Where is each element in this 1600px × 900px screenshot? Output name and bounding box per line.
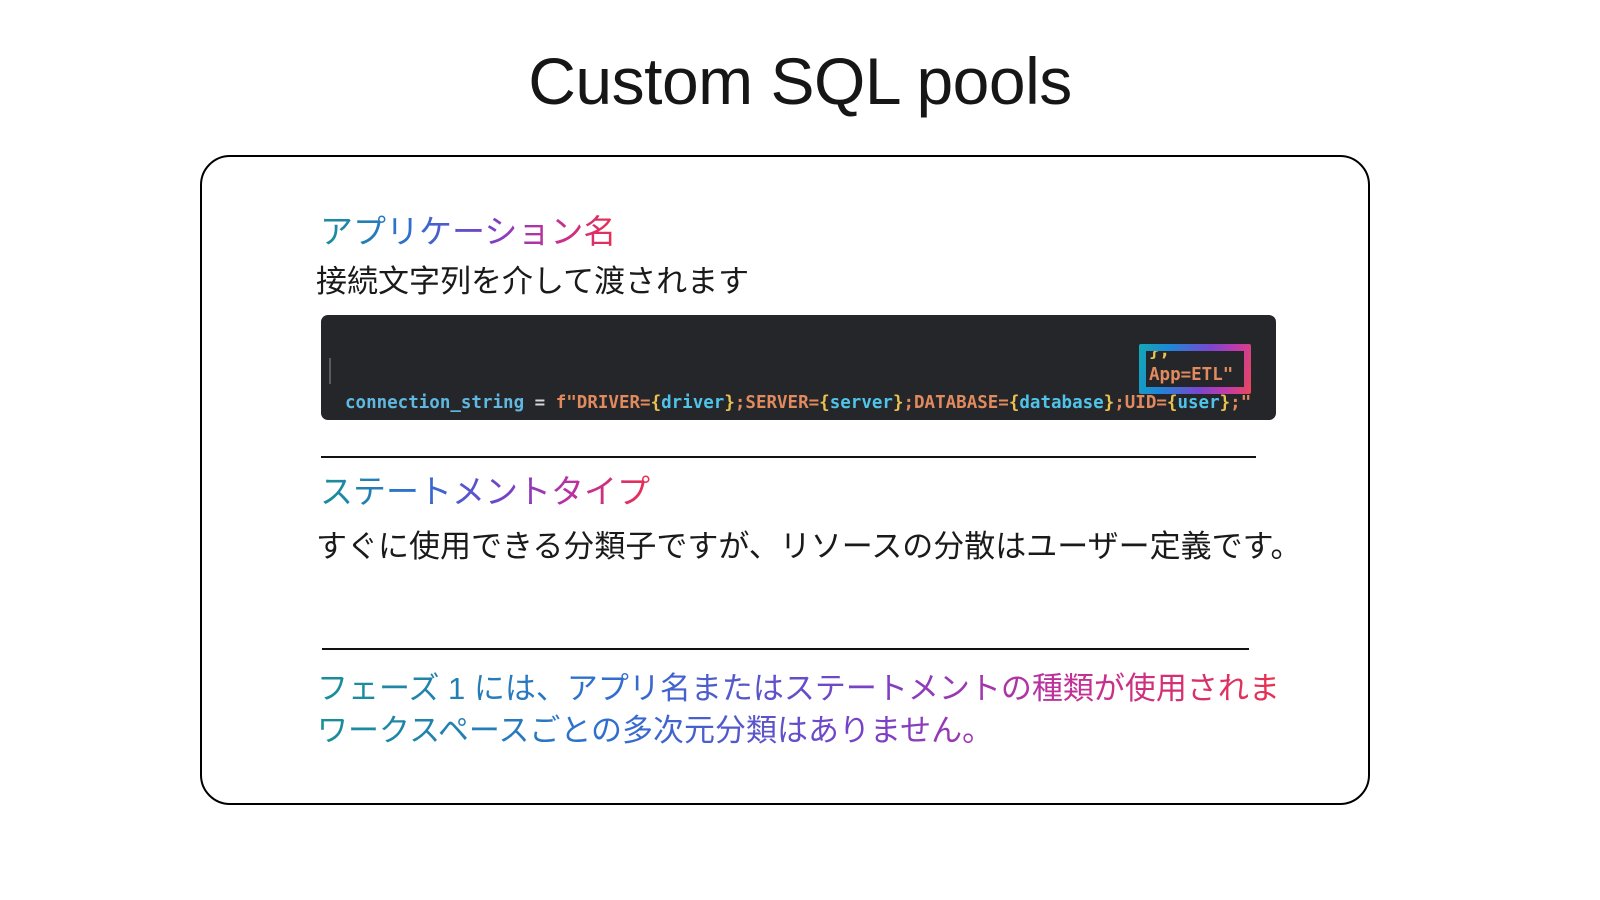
code-highlight-inner: };" App=ETL" <box>1146 351 1244 387</box>
code-line-1: connection_string = f"DRIVER={driver};SE… <box>345 390 1276 416</box>
footer-note-line-2: ワークスペースごとの多次元分類はありません。 <box>317 710 1277 752</box>
section-divider-1 <box>321 456 1256 458</box>
section-heading-statement-type: ステートメントタイプ <box>320 471 650 512</box>
section-heading-application-name: アプリケーション名 <box>320 211 616 252</box>
application-name-body-text: 接続文字列を介して渡されます <box>316 262 749 302</box>
application-name-heading-text: アプリケーション名 <box>320 211 616 252</box>
code-highlight-label: App=ETL" <box>1149 364 1233 386</box>
code-block: connection_string = f"DRIVER={driver};SE… <box>321 315 1276 420</box>
page-title: Custom SQL pools <box>0 48 1600 114</box>
code-lines: connection_string = f"DRIVER={driver};SE… <box>345 338 1276 420</box>
statement-type-heading-text: ステートメントタイプ <box>320 471 650 512</box>
code-highlight-peek-text: };" <box>1149 351 1181 362</box>
code-indent-guide <box>329 358 331 384</box>
code-highlight-box: };" App=ETL" <box>1139 344 1251 394</box>
section-divider-2 <box>322 648 1249 650</box>
footer-note: フェーズ 1 には、アプリ名またはステートメントの種類が使用されます。 ワークス… <box>317 668 1277 752</box>
footer-note-line-1: フェーズ 1 には、アプリ名またはステートメントの種類が使用されます。 <box>317 668 1277 710</box>
statement-type-body-text: すぐに使用できる分類子ですが、リソースの分散はユーザー定義です。 <box>316 527 1302 567</box>
